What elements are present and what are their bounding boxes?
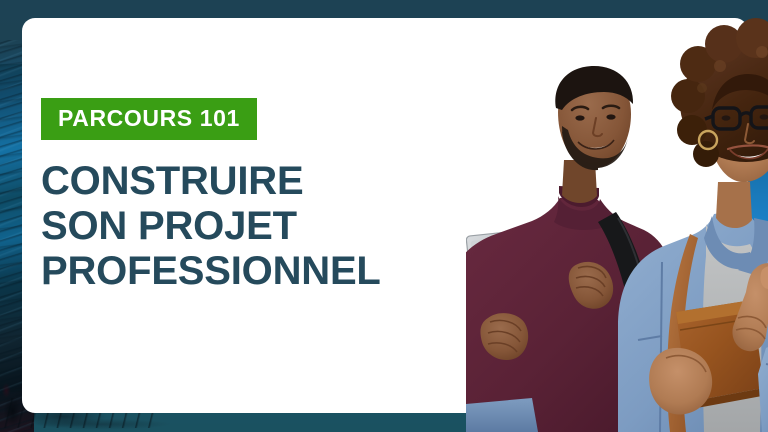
eyebrow-badge: PARCOURS 101 — [41, 98, 257, 140]
headline-line-2: SON PROJET — [41, 204, 471, 249]
headline-line-3: PROFESSIONNEL — [41, 249, 471, 294]
text-block: PARCOURS 101 CONSTRUIRE SON PROJET PROFE… — [41, 98, 471, 293]
headline-line-1: CONSTRUIRE — [41, 159, 471, 204]
page-title: CONSTRUIRE SON PROJET PROFESSIONNEL — [41, 159, 471, 293]
slide-canvas: PARCOURS 101 CONSTRUIRE SON PROJET PROFE… — [0, 0, 768, 432]
